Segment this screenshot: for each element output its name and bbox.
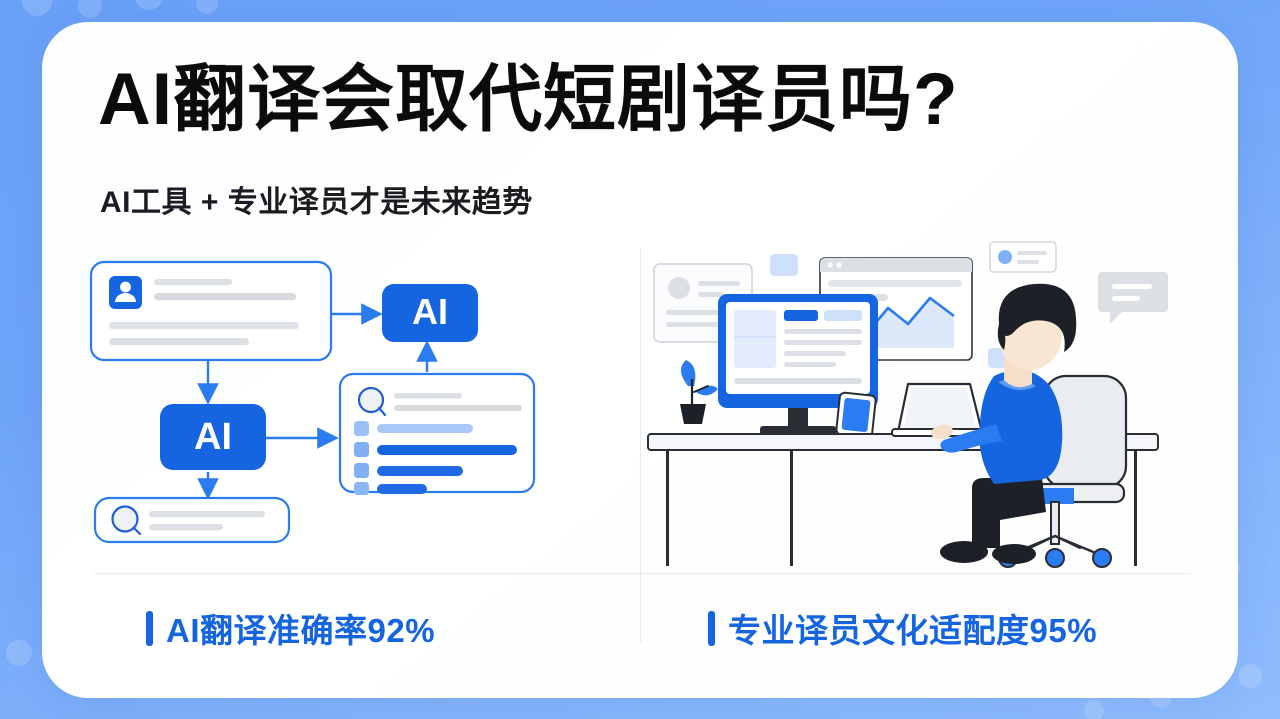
stat-left: AI翻译准确率92% [146, 604, 435, 652]
ai-workflow-diagram: AI AI [82, 248, 640, 568]
ai-badge-top: AI [382, 284, 478, 342]
decor-block [770, 254, 798, 276]
vertical-divider [640, 248, 641, 643]
main-content-card: AI翻译会取代短剧译员吗? AI工具 + 专业译员才是未来趋势 [42, 22, 1238, 698]
background-dot [135, 0, 163, 10]
background-dot [1084, 700, 1104, 719]
contact-card [990, 242, 1056, 272]
search-bar [95, 498, 289, 542]
stat-accent-bar [708, 611, 715, 646]
translator-at-desk-illustration [642, 236, 1190, 576]
background-dot [1238, 664, 1262, 688]
ai-badge-mid: AI [160, 404, 266, 470]
background-dot [22, 0, 52, 16]
page-subtitle: AI工具 + 专业译员才是未来趋势 [100, 177, 533, 221]
document-card [91, 262, 331, 360]
background-dot [6, 640, 32, 666]
stat-right-label: 专业译员文化适配度95% [728, 604, 1097, 652]
svg-text:AI: AI [194, 416, 232, 458]
stat-left-label: AI翻译准确率92% [166, 604, 435, 652]
avatar-icon [109, 276, 142, 309]
stat-right: 专业译员文化适配度95% [708, 604, 1097, 652]
background-dot [78, 0, 102, 18]
stat-accent-bar [146, 611, 153, 646]
result-list-card [340, 374, 534, 495]
chat-bubble [1098, 272, 1168, 324]
page-title: AI翻译会取代短剧译员吗? [98, 62, 959, 139]
svg-text:AI: AI [412, 291, 448, 332]
background-dot [196, 0, 218, 14]
poster-canvas: AI翻译会取代短剧译员吗? AI工具 + 专业译员才是未来趋势 [0, 0, 1280, 719]
tablet [836, 392, 876, 438]
plant [680, 360, 718, 424]
